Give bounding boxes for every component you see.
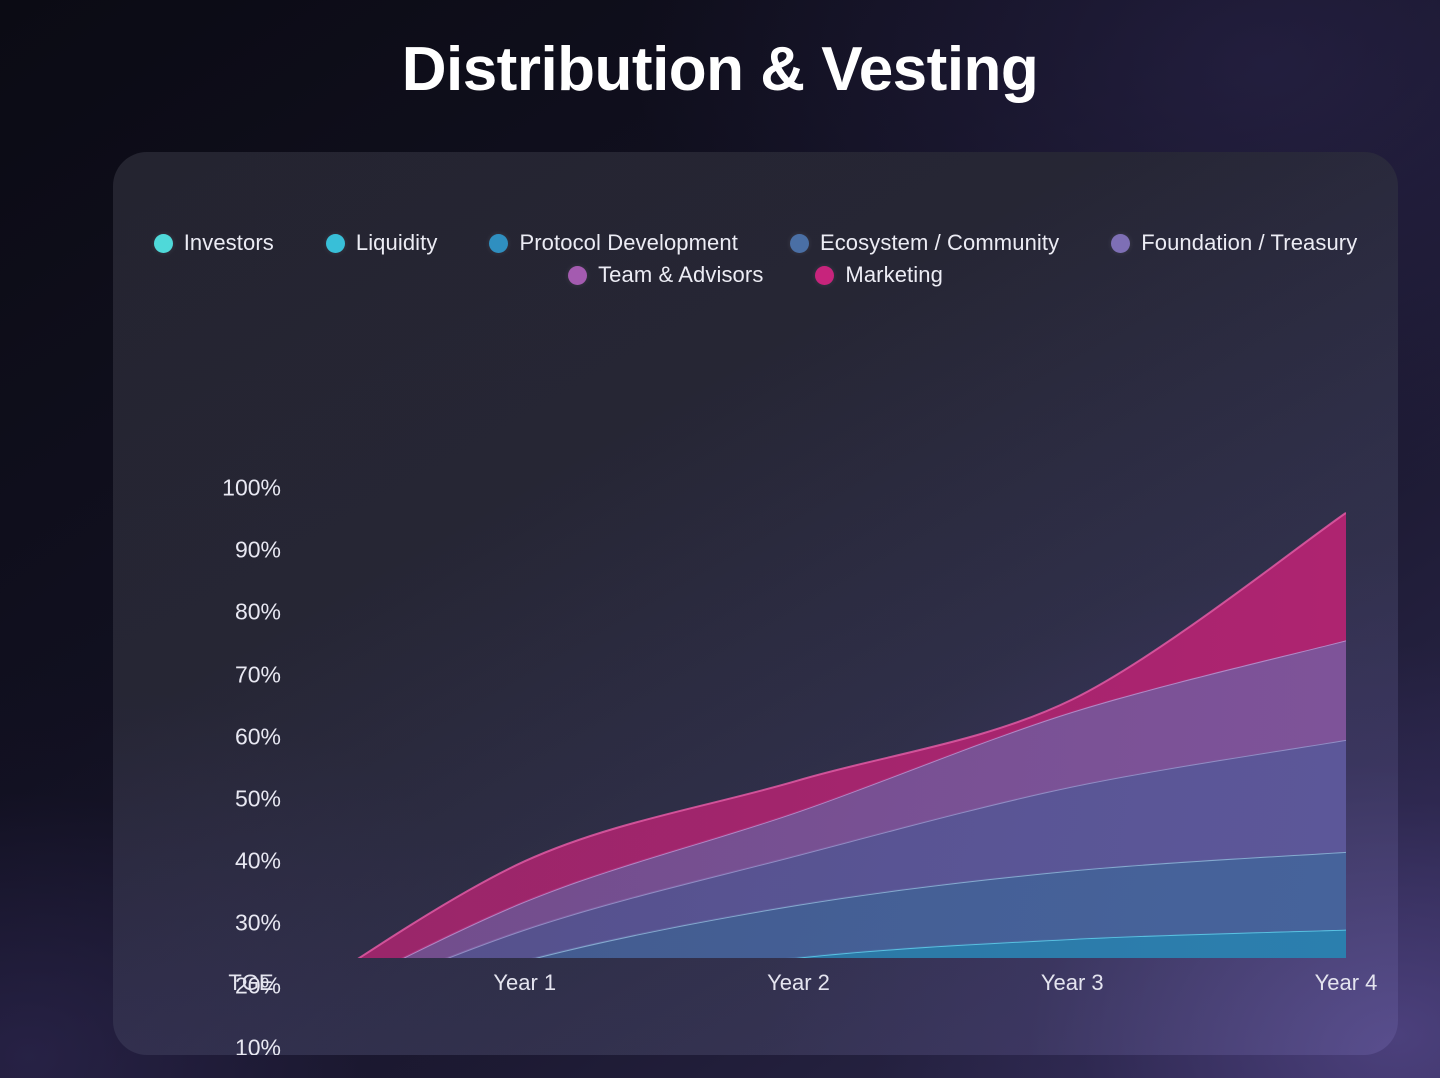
y-axis-tick: 10% bbox=[235, 1034, 281, 1055]
x-axis-tick: Year 2 bbox=[767, 970, 830, 996]
x-axis-tick: Year 4 bbox=[1315, 970, 1378, 996]
stacked-area-chart bbox=[251, 352, 1346, 958]
x-axis-tick: Year 3 bbox=[1041, 970, 1104, 996]
chart-card: InvestorsLiquidityProtocol DevelopmentEc… bbox=[113, 152, 1398, 1055]
x-axis-tick: TGE bbox=[228, 970, 273, 996]
x-axis: TGEYear 1Year 2Year 3Year 4 bbox=[241, 970, 1338, 1004]
x-axis-tick: Year 1 bbox=[493, 970, 556, 996]
page-title: Distribution & Vesting bbox=[0, 36, 1440, 104]
plot-area: 10%20%30%40%50%60%70%80%90%100% TGEYear … bbox=[113, 152, 1398, 1055]
